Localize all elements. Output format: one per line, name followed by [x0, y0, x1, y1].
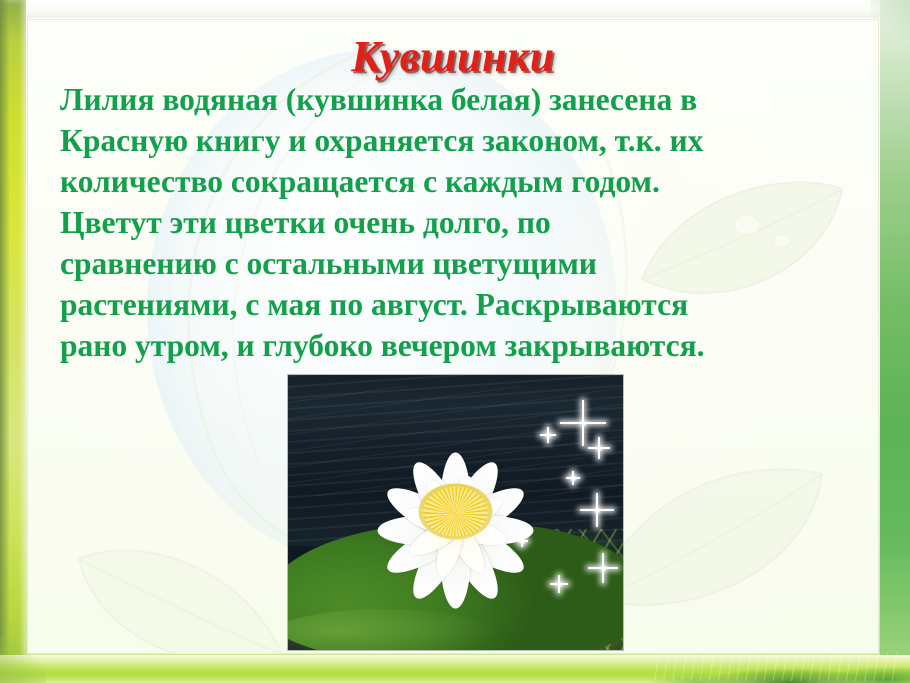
slide-content-panel: Кувшинки Лилия водяная (кувшинка белая) … — [27, 19, 879, 654]
frame-bottom-border — [0, 655, 910, 683]
body-line: количество сокращается с каждым годом. — [60, 161, 850, 202]
frame-left-border — [0, 0, 26, 683]
leaf-vein-lines — [650, 651, 900, 681]
body-line: Красную книгу и охраняется законом, т.к.… — [60, 120, 850, 161]
frame-right-border — [880, 0, 910, 683]
lily-stamens — [423, 486, 489, 536]
water-lily-photo — [288, 375, 623, 650]
frame-left-border-inner — [0, 0, 9, 683]
body-line: рано утром, и глубоко вечером закрываютс… — [60, 325, 850, 366]
leaf-watermark-right-lower — [587, 439, 837, 629]
body-line: сравнению с остальными цветущими — [60, 243, 850, 284]
body-paragraph: Лилия водяная (кувшинка белая) занесена … — [60, 79, 850, 366]
body-line: Цветут эти цветки очень долго, по — [60, 202, 850, 243]
frame-top-border — [0, 0, 910, 18]
page-title: Кувшинки — [27, 31, 879, 82]
lily-pad-highlight — [288, 609, 502, 650]
leaf-watermark-left-lower — [67, 519, 297, 654]
presentation-slide: Кувшинки Лилия водяная (кувшинка белая) … — [0, 0, 910, 683]
body-line: Лилия водяная (кувшинка белая) занесена … — [60, 79, 850, 120]
white-lily-flower — [353, 431, 558, 606]
body-line: растениями, с мая по август. Раскрываютс… — [60, 284, 850, 325]
